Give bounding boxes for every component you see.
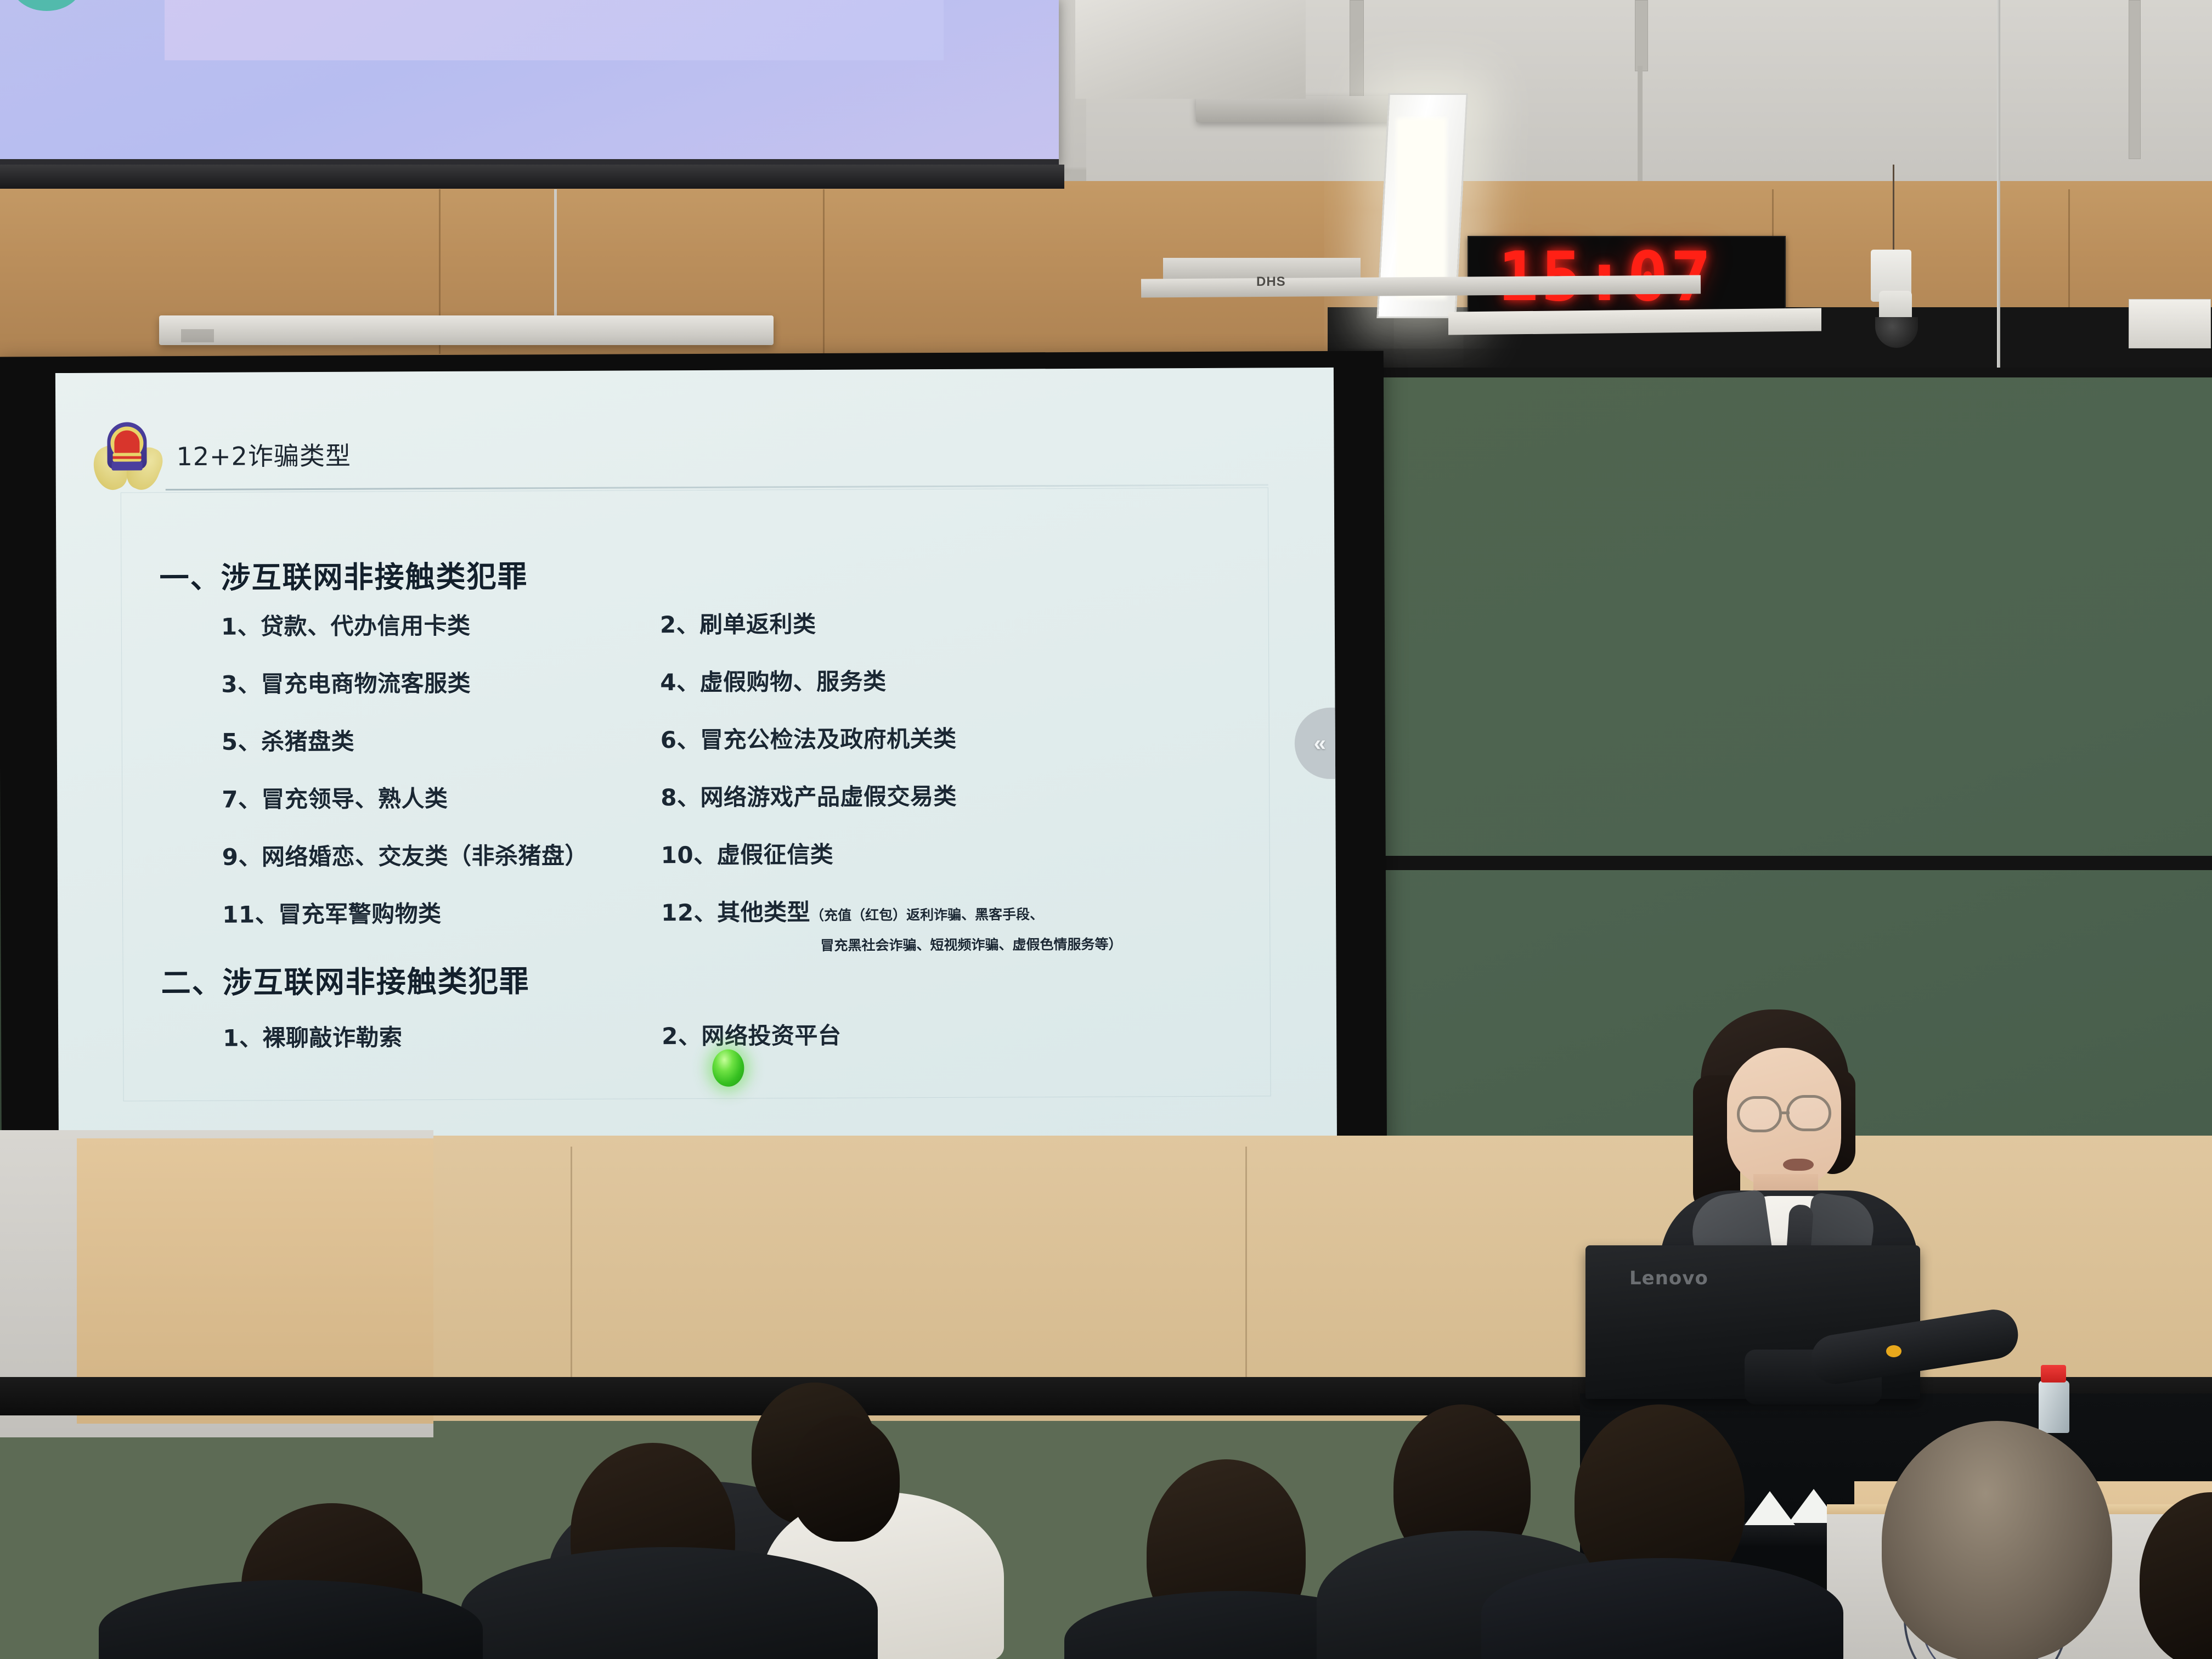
monitor-brand-label: Lenovo	[1629, 1267, 1708, 1289]
item-12-note-1: （充值（红包）返利诈骗、黑客手段、	[810, 906, 1043, 923]
presenter-glasses-right	[1786, 1095, 1831, 1131]
list-item-12: 12、其他类型（充值（红包）返利诈骗、黑客手段、冒充黑社会诈骗、短视频诈骗、虚假…	[661, 892, 1232, 956]
ceiling-strut-c	[2129, 0, 2141, 159]
list-item: 8、网络游戏产品虚假交易类	[661, 777, 1231, 813]
presenter-glasses-left	[1737, 1096, 1782, 1132]
list-item: 6、冒充公检法及政府机关类	[661, 719, 1231, 755]
housing-label-plate	[181, 329, 214, 342]
slide-section-2-items: 1、裸聊敲诈勒索 2、网络投资平台	[223, 1015, 1265, 1053]
clock-shelf	[1448, 308, 1821, 335]
water-bottle	[2039, 1380, 2069, 1433]
slide-section-1-items: 1、贷款、代办信用卡类 2、刷单返利类 3、冒充电商物流客服类 4、虚假购物、服…	[221, 603, 1265, 957]
list-item: 1、贷款、代办信用卡类	[221, 606, 660, 641]
lower-wall-seam-1	[571, 1147, 572, 1377]
water-bottle-cap	[2041, 1365, 2066, 1383]
slide-header: 12+2诈骗类型	[97, 419, 351, 490]
monitor-arm-sticker	[1886, 1345, 1901, 1357]
hanging-microphone-cable	[1997, 0, 2000, 379]
list-item: 9、网络婚恋、交友类（非杀猪盘）	[222, 837, 661, 872]
screen-housing-cable	[554, 189, 557, 318]
list-item: 7、冒充领导、熟人类	[222, 779, 661, 814]
wood-seam-4	[2068, 189, 2070, 326]
ceiling-strut-a	[1350, 0, 1364, 110]
slide-section-2-heading: 二、涉互联网非接触类犯罪	[161, 957, 530, 1002]
emblem-tiananmen	[114, 430, 139, 454]
projection-screen[interactable]: 12+2诈骗类型 一、涉互联网非接触类犯罪 1、贷款、代办信用卡类 2、刷单返利…	[55, 368, 1337, 1152]
list-item: 2、刷单返利类	[660, 604, 1231, 640]
secondary-display-panel	[0, 0, 1059, 165]
wood-seam-2	[823, 189, 825, 354]
wall-mounted-box	[2129, 299, 2211, 348]
camera-wire	[1893, 165, 1894, 252]
projector-rail	[1141, 275, 1701, 297]
audience-shoulder	[99, 1580, 483, 1659]
audience-head-hooded	[1882, 1421, 2112, 1659]
presenter-glasses-bridge	[1781, 1111, 1790, 1114]
list-item: 5、杀猪盘类	[222, 721, 661, 757]
ceiling-duct-upper	[1075, 0, 1306, 99]
laser-pointer-dot	[712, 1049, 744, 1087]
emblem-base	[112, 461, 143, 470]
list-item: 10、虚假征信类	[661, 834, 1232, 871]
secondary-display-bezel	[0, 165, 1064, 189]
list-item: 4、虚假购物、服务类	[660, 662, 1231, 698]
slide-section-1-heading: 一、涉互联网非接触类犯罪	[159, 552, 528, 597]
audience-shoulder	[1481, 1558, 1843, 1659]
paper-tent-1	[1745, 1491, 1795, 1525]
list-item: 2、网络投资平台	[662, 1015, 1232, 1052]
ceiling-strut-b	[1635, 0, 1648, 71]
presenter-mouth	[1783, 1159, 1814, 1171]
lower-wall-seam-2	[1245, 1147, 1247, 1377]
police-emblem-icon	[97, 420, 157, 490]
slide-title: 12+2诈骗类型	[176, 436, 351, 473]
ceiling-light-glow	[1396, 118, 1447, 299]
list-item: 3、冒充电商物流客服类	[221, 664, 660, 699]
item-12-main: 12、其他类型	[661, 899, 810, 926]
secondary-display-teal-shape	[11, 0, 82, 11]
lecture-hall-photo: 15:07 DHS	[0, 0, 2212, 1659]
chevron-left-double-icon: «	[1314, 731, 1326, 755]
projection-screen-frame: 12+2诈骗类型 一、涉互联网非接触类犯罪 1、贷款、代办信用卡类 2、刷单返利…	[0, 351, 1387, 1180]
presentation-slide: 12+2诈骗类型 一、涉互联网非接触类犯罪 1、贷款、代办信用卡类 2、刷单返利…	[55, 368, 1337, 1152]
item-12-note-2: 冒充黑社会诈骗、短视频诈骗、虚假色情服务等）	[820, 933, 1232, 955]
audience-head	[790, 1415, 900, 1542]
emblem-stripes	[113, 453, 142, 461]
projection-screen-housing	[159, 315, 774, 345]
list-item: 11、冒充军警购物类	[222, 894, 661, 957]
secondary-display-inner	[165, 0, 944, 60]
projector-rail-label: DHS	[1256, 274, 1286, 290]
blackboard-divider	[1328, 856, 2212, 870]
list-item: 1、裸聊敲诈勒索	[223, 1018, 662, 1053]
